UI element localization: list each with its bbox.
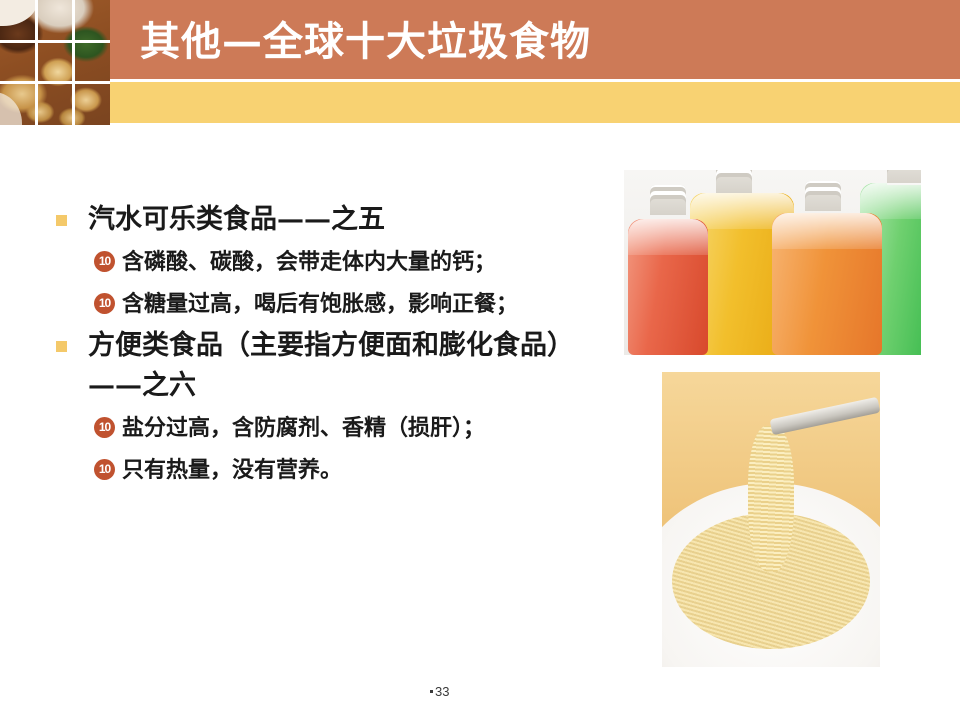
slide-title: 其他—全球十大垃圾食物 (140, 16, 840, 68)
square-bullet-icon (56, 215, 67, 226)
slide: 其他—全球十大垃圾食物 汽水可乐类食品——之五 10 含磷酸、碳酸，会带走体内大… (0, 0, 960, 720)
list-item: 10 含糖量过高，喝后有饱胀感，影响正餐； (46, 284, 606, 324)
bottle-shoulder (772, 213, 882, 249)
section-heading-1-text: 汽水可乐类食品——之五 (88, 204, 385, 235)
page-number: 33 (430, 684, 449, 699)
header-accent-band (110, 82, 960, 123)
corner-food-photo (0, 0, 110, 125)
list-item: 10 只有热量，没有营养。 (46, 450, 606, 490)
bottle-shoulder (628, 219, 708, 255)
page-number-dot-icon (430, 690, 433, 693)
section-heading-1: 汽水可乐类食品——之五 (46, 200, 606, 240)
bottle-neck (716, 170, 752, 193)
list-item: 10 含磷酸、碳酸，会带走体内大量的钙； (46, 242, 606, 282)
corner-photo-grid-line (0, 40, 110, 43)
corner-photo-grid-line (35, 0, 38, 125)
noodles-lifted-strand (748, 426, 794, 572)
page-number-value: 33 (435, 684, 449, 699)
circled-ten-icon: 10 (94, 417, 115, 438)
list-item-text: 只有热量，没有营养。 (122, 457, 342, 483)
list-item: 10 盐分过高，含防腐剂、香精（损肝）； (46, 408, 606, 448)
soda-bottles-photo (624, 170, 921, 355)
corner-photo-grid-line (0, 81, 110, 84)
list-item-text: 含磷酸、碳酸，会带走体内大量的钙； (122, 249, 496, 275)
list-item-text: 盐分过高，含防腐剂、香精（损肝）； (122, 415, 485, 441)
square-bullet-icon (56, 341, 67, 352)
section-heading-2-text: 方便类食品（主要指方便面和膨化食品）——之六 (88, 330, 574, 401)
soda-bottle-orange (772, 213, 882, 355)
bottle-neck (650, 185, 686, 215)
list-item-text: 含糖量过高，喝后有饱胀感，影响正餐； (122, 291, 518, 317)
noodles-photo (662, 372, 880, 667)
circled-ten-icon: 10 (94, 293, 115, 314)
slide-body: 汽水可乐类食品——之五 10 含磷酸、碳酸，会带走体内大量的钙； 10 含糖量过… (46, 200, 606, 492)
circled-ten-icon: 10 (94, 251, 115, 272)
corner-photo-grid-line (72, 0, 75, 125)
circled-ten-icon: 10 (94, 459, 115, 480)
bottle-neck (805, 181, 841, 211)
soda-bottle-red (628, 219, 708, 355)
section-heading-2: 方便类食品（主要指方便面和膨化食品）——之六 (46, 326, 606, 406)
